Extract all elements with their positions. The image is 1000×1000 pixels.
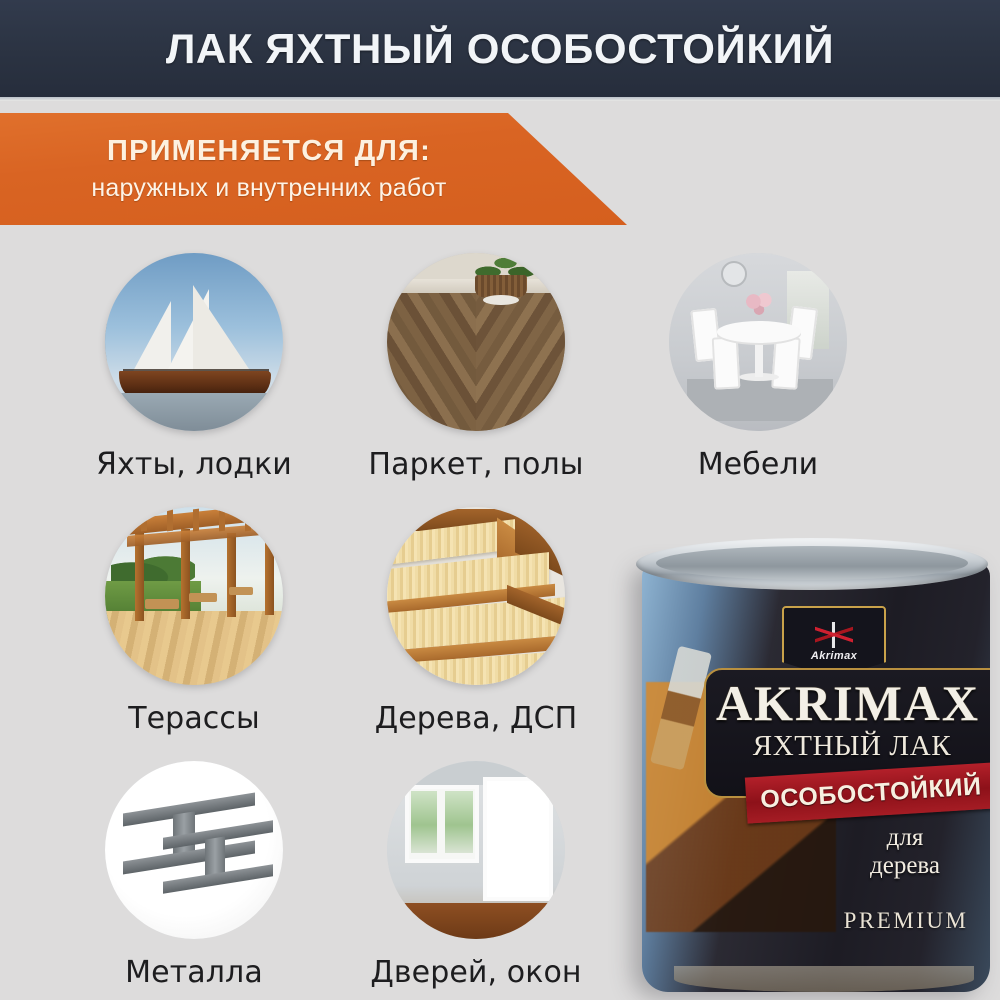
- page-title: ЛАК ЯХТНЫЙ ОСОБОСТОЙКИЙ: [166, 25, 834, 73]
- feature-label: Паркет, полы: [326, 447, 626, 482]
- can-body: Akrimax AKRIMAX ЯХТНЫЙ ЛАК ОСОБОСТОЙКИЙ …: [642, 562, 990, 992]
- parquet-floor-icon: [387, 253, 565, 431]
- feature-label: Дерева, ДСП: [326, 701, 626, 736]
- product-can: Akrimax AKRIMAX ЯХТНЫЙ ЛАК ОСОБОСТОЙКИЙ …: [632, 536, 1000, 1000]
- feature-item-doors[interactable]: Дверей, окон: [326, 761, 626, 990]
- feature-item-yachts[interactable]: Яхты, лодки: [44, 253, 344, 482]
- product-ribbon-label: ОСОБОСТОЙКИЙ: [759, 772, 982, 814]
- dining-furniture-icon: [669, 253, 847, 431]
- product-usage-line1: для: [842, 824, 968, 852]
- feature-label: Мебели: [608, 447, 908, 482]
- brand-wordmark: Akrimax: [811, 650, 857, 662]
- feature-label: Металла: [44, 955, 344, 990]
- can-lid: [656, 546, 968, 580]
- feature-item-metal[interactable]: Металла: [44, 761, 344, 990]
- feature-label: Терассы: [44, 701, 344, 736]
- doors-windows-icon: [387, 761, 565, 939]
- product-brand-name: AKRIMAX: [712, 674, 984, 732]
- banner-heading: ПРИМЕНЯЕТСЯ ДЛЯ:: [107, 136, 431, 167]
- feature-item-terraces[interactable]: Терассы: [44, 507, 344, 736]
- feature-item-wood[interactable]: Дерева, ДСП: [326, 507, 626, 736]
- header-divider: [0, 97, 1000, 101]
- product-subtitle: ЯХТНЫЙ ЛАК: [712, 730, 990, 763]
- feature-label: Дверей, окон: [326, 955, 626, 990]
- banner-subheading: наружных и внутренних работ: [91, 175, 446, 202]
- applications-banner-text: ПРИМЕНЯЕТСЯ ДЛЯ: наружных и внутренних р…: [0, 113, 520, 225]
- feature-label: Яхты, лодки: [44, 447, 344, 482]
- wood-boards-icon: [387, 507, 565, 685]
- steel-beams-icon: [105, 761, 283, 939]
- product-usage: для дерева: [842, 824, 968, 880]
- can-bottom-rim: [674, 966, 974, 992]
- feature-item-parquet[interactable]: Паркет, полы: [326, 253, 626, 482]
- product-usage-line2: дерева: [842, 852, 968, 880]
- infographic-page: ЛАК ЯХТНЫЙ ОСОБОСТОЙКИЙ ПРИМЕНЯЕТСЯ ДЛЯ:…: [0, 0, 1000, 1000]
- wooden-terrace-icon: [105, 507, 283, 685]
- feature-item-furniture[interactable]: Мебели: [608, 253, 908, 482]
- sailing-yacht-icon: [105, 253, 283, 431]
- brand-mark-icon: [815, 622, 853, 648]
- page-header: ЛАК ЯХТНЫЙ ОСОБОСТОЙКИЙ: [0, 0, 1000, 97]
- product-premium-label: PREMIUM: [838, 908, 974, 934]
